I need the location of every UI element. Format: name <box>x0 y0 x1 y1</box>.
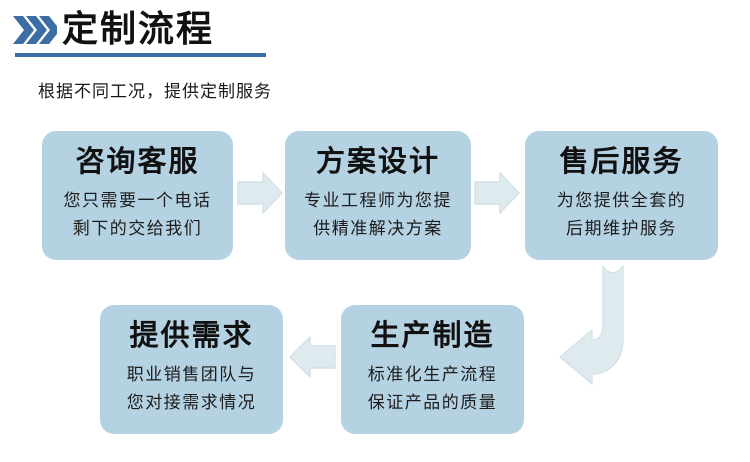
step-title: 咨询客服 <box>42 145 233 179</box>
step-description-line: 供精准解决方案 <box>285 215 471 243</box>
step-description-line: 剩下的交给我们 <box>42 215 233 243</box>
step-title: 售后服务 <box>525 145 718 179</box>
process-step-card-2[interactable]: 方案设计 专业工程师为您提 供精准解决方案 <box>285 131 471 260</box>
customization-process-infographic: 定制流程 根据不同工况，提供定制服务 咨询客服 您只需要一个电话 剩下的交给我们… <box>0 0 750 462</box>
step-description-line: 职业销售团队与 <box>100 361 283 389</box>
arrow-right-icon <box>237 172 283 214</box>
step-description: 为您提供全套的 后期维护服务 <box>525 187 718 243</box>
step-description: 专业工程师为您提 供精准解决方案 <box>285 187 471 243</box>
step-description: 职业销售团队与 您对接需求情况 <box>100 361 283 417</box>
page-subtitle: 根据不同工况，提供定制服务 <box>38 79 272 105</box>
process-step-card-3[interactable]: 售后服务 为您提供全套的 后期维护服务 <box>525 131 718 260</box>
page-title: 定制流程 <box>62 6 214 52</box>
step-title: 方案设计 <box>285 145 471 179</box>
step-description: 标准化生产流程 保证产品的质量 <box>341 361 524 417</box>
step-description-line: 后期维护服务 <box>525 215 718 243</box>
step-description-line: 专业工程师为您提 <box>285 187 471 215</box>
step-title: 生产制造 <box>341 319 524 353</box>
step-title: 提供需求 <box>100 319 283 353</box>
process-step-card-5[interactable]: 提供需求 职业销售团队与 您对接需求情况 <box>100 305 283 434</box>
step-description-line: 保证产品的质量 <box>341 389 524 417</box>
triple-chevron-right-icon <box>13 14 57 46</box>
arrow-left-icon <box>288 335 336 379</box>
step-description-line: 您对接需求情况 <box>100 389 283 417</box>
step-description-line: 您只需要一个电话 <box>42 187 233 215</box>
header-underline-divider <box>15 53 266 57</box>
section-header: 定制流程 <box>0 0 750 66</box>
process-step-card-1[interactable]: 咨询客服 您只需要一个电话 剩下的交给我们 <box>42 131 233 260</box>
arrow-right-icon <box>474 172 520 214</box>
arrow-bend-down-left-icon <box>554 262 646 388</box>
step-description: 您只需要一个电话 剩下的交给我们 <box>42 187 233 243</box>
step-description-line: 标准化生产流程 <box>341 361 524 389</box>
process-step-card-4[interactable]: 生产制造 标准化生产流程 保证产品的质量 <box>341 305 524 434</box>
step-description-line: 为您提供全套的 <box>525 187 718 215</box>
